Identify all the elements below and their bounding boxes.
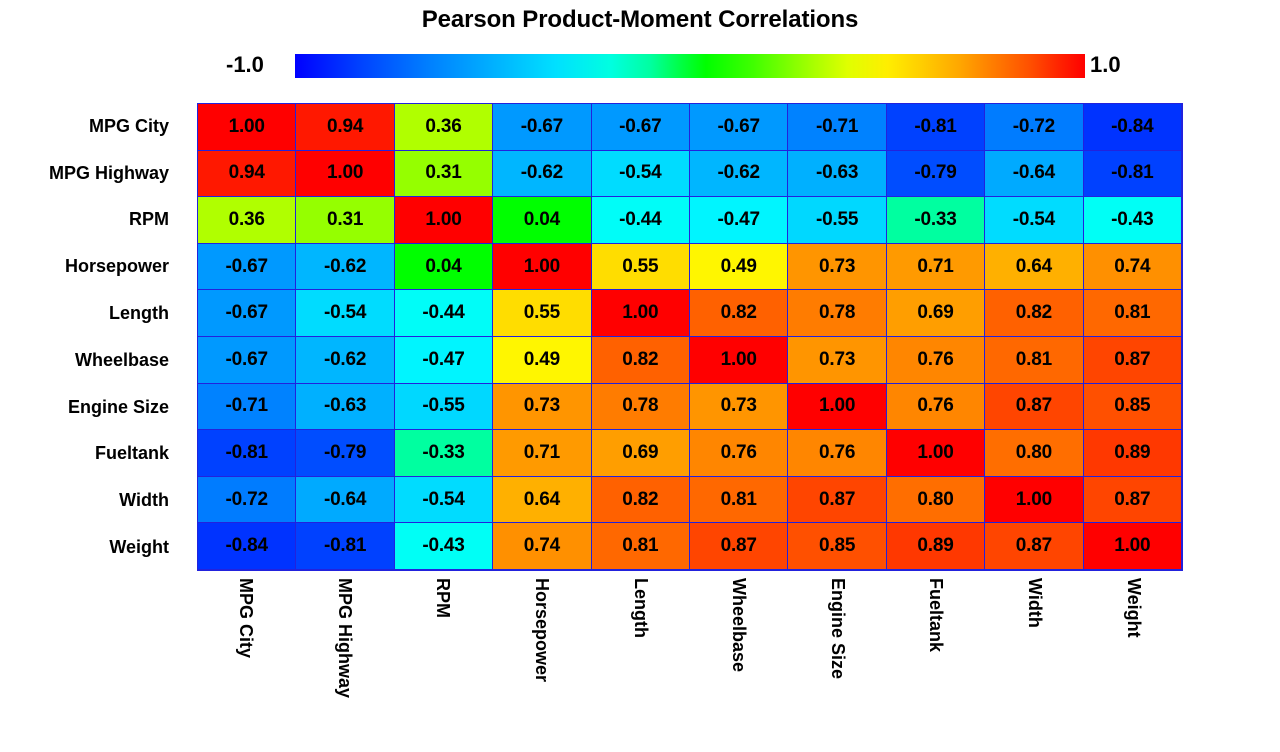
heatmap-cell: -0.62 <box>492 150 591 198</box>
heatmap-cell: 0.81 <box>984 336 1083 384</box>
heatmap-cell: 0.89 <box>886 522 985 570</box>
heatmap-cell: 0.82 <box>984 289 1083 337</box>
heatmap-cell: -0.63 <box>295 383 394 431</box>
heatmap-cell: 0.04 <box>492 196 591 244</box>
heatmap-cell: 0.76 <box>689 429 788 477</box>
heatmap-cell: -0.67 <box>492 103 591 151</box>
heatmap-cell: 0.87 <box>1083 476 1182 524</box>
heatmap-cell: 1.00 <box>1083 522 1182 570</box>
heatmap-cell: -0.71 <box>787 103 886 151</box>
colorbar-gradient <box>295 54 1085 78</box>
heatmap-cell: 0.81 <box>1083 289 1182 337</box>
heatmap-cell: -0.81 <box>197 429 296 477</box>
heatmap-cell: -0.84 <box>197 522 296 570</box>
heatmap-cell: 0.82 <box>591 336 690 384</box>
column-label-slot: Weight <box>1084 578 1183 748</box>
heatmap-cell: 0.64 <box>492 476 591 524</box>
heatmap-cell: 0.36 <box>394 103 493 151</box>
heatmap-cell: 0.69 <box>886 289 985 337</box>
heatmap-cell: 0.31 <box>394 150 493 198</box>
row-label: Horsepower <box>0 243 183 290</box>
heatmap-cell: -0.64 <box>295 476 394 524</box>
heatmap-cell: -0.72 <box>984 103 1083 151</box>
heatmap-cell: 0.55 <box>492 289 591 337</box>
column-label-slot: Horsepower <box>493 578 592 748</box>
column-label: Horsepower <box>533 578 551 682</box>
heatmap-cell: -0.67 <box>197 289 296 337</box>
heatmap-cell: 1.00 <box>295 150 394 198</box>
heatmap-cell: 0.78 <box>787 289 886 337</box>
heatmap-cell: -0.47 <box>394 336 493 384</box>
heatmap-cell: -0.67 <box>197 243 296 291</box>
heatmap-cell: 0.49 <box>689 243 788 291</box>
heatmap-cell: 0.80 <box>886 476 985 524</box>
heatmap-cell: 1.00 <box>492 243 591 291</box>
heatmap-cell: -0.62 <box>295 243 394 291</box>
heatmap-cell: -0.79 <box>295 429 394 477</box>
heatmap-cell: -0.55 <box>394 383 493 431</box>
chart-title: Pearson Product-Moment Correlations <box>0 6 1280 34</box>
heatmap-matrix: 1.000.940.36-0.67-0.67-0.67-0.71-0.81-0.… <box>197 103 1183 571</box>
heatmap-cell: 0.73 <box>787 243 886 291</box>
heatmap-cell: -0.79 <box>886 150 985 198</box>
heatmap-cell: 0.87 <box>689 522 788 570</box>
heatmap-cell: 0.85 <box>787 522 886 570</box>
heatmap-cell: -0.47 <box>689 196 788 244</box>
heatmap-cell: 0.64 <box>984 243 1083 291</box>
heatmap-cell: -0.54 <box>591 150 690 198</box>
heatmap-cell: -0.81 <box>295 522 394 570</box>
column-label-slot: MPG City <box>197 578 296 748</box>
heatmap-cell: 0.76 <box>886 383 985 431</box>
row-label: MPG City <box>0 103 183 150</box>
heatmap-cell: 0.76 <box>886 336 985 384</box>
column-label: Engine Size <box>829 578 847 679</box>
heatmap-cell: 0.04 <box>394 243 493 291</box>
heatmap-cell: 0.49 <box>492 336 591 384</box>
heatmap-cell: 1.00 <box>787 383 886 431</box>
heatmap-cell: 0.82 <box>591 476 690 524</box>
heatmap-cell: -0.81 <box>886 103 985 151</box>
heatmap-cell: -0.54 <box>984 196 1083 244</box>
heatmap-cell: 0.71 <box>886 243 985 291</box>
heatmap-cell: -0.72 <box>197 476 296 524</box>
heatmap-cell: 0.89 <box>1083 429 1182 477</box>
heatmap-cell: 0.82 <box>689 289 788 337</box>
column-label: Fueltank <box>927 578 945 652</box>
column-label: RPM <box>434 578 452 618</box>
colorbar-max-label: 1.0 <box>1090 50 1121 80</box>
heatmap-cell: -0.44 <box>591 196 690 244</box>
column-label-slot: Length <box>591 578 690 748</box>
heatmap-cell: 1.00 <box>689 336 788 384</box>
heatmap-cell: -0.54 <box>394 476 493 524</box>
row-axis-labels: MPG CityMPG HighwayRPMHorsepowerLengthWh… <box>0 103 183 571</box>
column-label: Wheelbase <box>730 578 748 672</box>
row-label: MPG Highway <box>0 150 183 197</box>
heatmap-cell: -0.33 <box>394 429 493 477</box>
row-label: Weight <box>0 524 183 571</box>
column-label-slot: Width <box>986 578 1085 748</box>
heatmap-cell: 0.87 <box>787 476 886 524</box>
heatmap-cell: 0.73 <box>689 383 788 431</box>
heatmap-cell: 0.55 <box>591 243 690 291</box>
heatmap-cell: -0.64 <box>984 150 1083 198</box>
heatmap-cell: 0.78 <box>591 383 690 431</box>
column-axis-labels: MPG CityMPG HighwayRPMHorsepowerLengthWh… <box>197 578 1183 748</box>
heatmap-cell: 0.81 <box>591 522 690 570</box>
heatmap-cell: 0.31 <box>295 196 394 244</box>
heatmap-cell: 1.00 <box>984 476 1083 524</box>
row-label: Fueltank <box>0 431 183 478</box>
row-label: Width <box>0 477 183 524</box>
heatmap-grid: 1.000.940.36-0.67-0.67-0.67-0.71-0.81-0.… <box>197 103 1183 571</box>
heatmap-cell: 1.00 <box>886 429 985 477</box>
heatmap-cell: 0.87 <box>984 383 1083 431</box>
heatmap-cell: -0.43 <box>394 522 493 570</box>
column-label: MPG City <box>237 578 255 658</box>
heatmap-cell: 0.85 <box>1083 383 1182 431</box>
colorbar: -1.0 1.0 <box>197 48 1183 84</box>
heatmap-cell: 0.73 <box>787 336 886 384</box>
row-label: Engine Size <box>0 384 183 431</box>
heatmap-cell: 0.36 <box>197 196 296 244</box>
heatmap-cell: -0.43 <box>1083 196 1182 244</box>
heatmap-cell: -0.44 <box>394 289 493 337</box>
column-label-slot: Engine Size <box>789 578 888 748</box>
heatmap-cell: -0.67 <box>197 336 296 384</box>
row-label: RPM <box>0 197 183 244</box>
heatmap-cell: -0.62 <box>689 150 788 198</box>
heatmap-cell: -0.63 <box>787 150 886 198</box>
column-label-slot: Wheelbase <box>690 578 789 748</box>
column-label-slot: RPM <box>394 578 493 748</box>
row-label: Length <box>0 290 183 337</box>
heatmap-cell: 0.80 <box>984 429 1083 477</box>
heatmap-cell: 1.00 <box>591 289 690 337</box>
heatmap-cell: 0.76 <box>787 429 886 477</box>
heatmap-cell: 0.74 <box>1083 243 1182 291</box>
heatmap-cell: 1.00 <box>394 196 493 244</box>
correlation-heatmap-figure: Pearson Product-Moment Correlations -1.0… <box>0 0 1280 752</box>
heatmap-cell: -0.67 <box>689 103 788 151</box>
heatmap-cell: 0.94 <box>295 103 394 151</box>
heatmap-cell: -0.54 <box>295 289 394 337</box>
heatmap-cell: 0.87 <box>1083 336 1182 384</box>
heatmap-cell: -0.55 <box>787 196 886 244</box>
heatmap-cell: 0.81 <box>689 476 788 524</box>
heatmap-cell: 0.87 <box>984 522 1083 570</box>
heatmap-cell: -0.81 <box>1083 150 1182 198</box>
heatmap-cell: 0.94 <box>197 150 296 198</box>
heatmap-cell: 0.74 <box>492 522 591 570</box>
heatmap-cell: -0.67 <box>591 103 690 151</box>
column-label-slot: MPG Highway <box>296 578 395 748</box>
column-label: Length <box>632 578 650 638</box>
column-label: Width <box>1026 578 1044 628</box>
colorbar-min-label: -1.0 <box>226 50 264 80</box>
column-label: Weight <box>1125 578 1143 638</box>
heatmap-cell: 0.71 <box>492 429 591 477</box>
heatmap-cell: 0.69 <box>591 429 690 477</box>
heatmap-cell: -0.62 <box>295 336 394 384</box>
column-label: MPG Highway <box>336 578 354 698</box>
row-label: Wheelbase <box>0 337 183 384</box>
heatmap-cell: -0.84 <box>1083 103 1182 151</box>
heatmap-cell: 1.00 <box>197 103 296 151</box>
heatmap-cell: -0.71 <box>197 383 296 431</box>
heatmap-cell: 0.73 <box>492 383 591 431</box>
heatmap-cell: -0.33 <box>886 196 985 244</box>
column-label-slot: Fueltank <box>887 578 986 748</box>
